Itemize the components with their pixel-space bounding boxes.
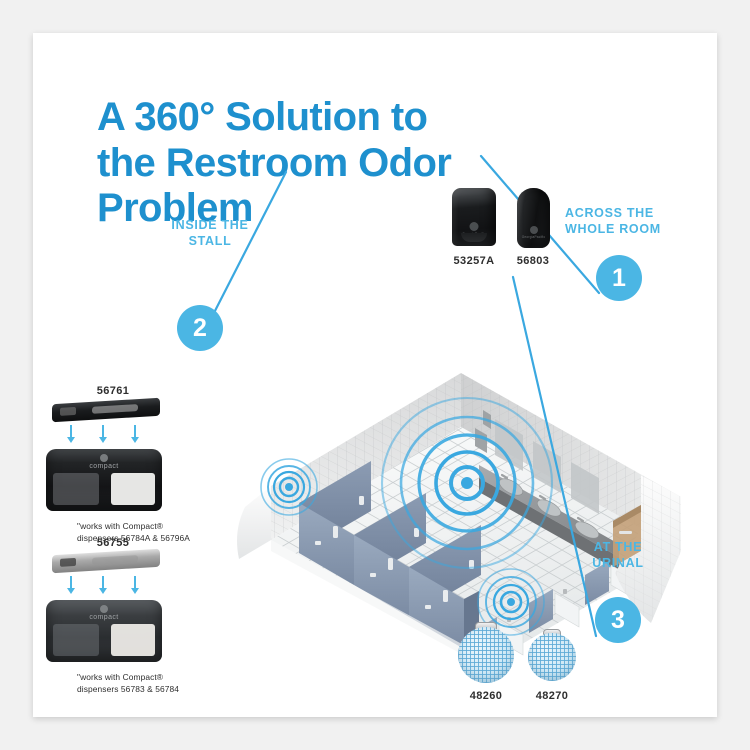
callout-title-1: ACROSS THE WHOLE ROOM bbox=[565, 205, 685, 238]
down-arrow-icon bbox=[134, 425, 136, 438]
screen-mesh bbox=[458, 627, 514, 683]
headline-line-2: the Restroom Odor bbox=[97, 141, 567, 187]
infographic-card: A 360° Solution to the Restroom Odor Pro… bbox=[33, 33, 717, 717]
callout-title-3: AT THE URINAL bbox=[558, 539, 678, 572]
brand-wordmark: compact bbox=[89, 614, 118, 621]
brand-mark-icon bbox=[100, 454, 108, 462]
callout-number-3: 3 bbox=[595, 597, 641, 643]
roll-window-right bbox=[111, 624, 155, 656]
lid-button bbox=[60, 407, 76, 416]
assembly-arrows bbox=[70, 425, 136, 438]
headline-line-1: A 360° Solution to bbox=[97, 95, 567, 141]
callout-bubble-1[interactable]: 1 bbox=[596, 255, 642, 301]
down-arrow-icon bbox=[102, 425, 104, 438]
brand-mark-icon bbox=[470, 222, 479, 231]
product-sku-56803: 56803 bbox=[492, 255, 574, 267]
lid-window bbox=[92, 404, 138, 414]
brand-mark-icon bbox=[100, 605, 108, 613]
product-sku-56755: 56755 bbox=[53, 537, 173, 549]
product-image-48260[interactable] bbox=[458, 627, 514, 683]
page-title: A 360° Solution to the Restroom Odor Pro… bbox=[97, 95, 567, 232]
product-sku-48260: 48260 bbox=[453, 690, 519, 702]
lid-button bbox=[60, 558, 76, 567]
product-sku-48270: 48270 bbox=[519, 690, 585, 702]
product-note-56755: "works with Compact® dispensers 56783 & … bbox=[77, 672, 227, 695]
assembly-arrows bbox=[70, 576, 136, 589]
callout-bubble-3[interactable]: 3 bbox=[595, 597, 641, 643]
product-sku-56761: 56761 bbox=[53, 385, 173, 397]
callout-number-1: 1 bbox=[596, 255, 642, 301]
brand-mark-icon bbox=[530, 226, 538, 234]
down-arrow-icon bbox=[134, 576, 136, 589]
brand-wordmark: compact bbox=[89, 463, 118, 470]
lid-window bbox=[92, 555, 138, 565]
roll-window-left bbox=[53, 473, 99, 505]
dispenser-lid bbox=[52, 398, 160, 423]
product-image-56803[interactable]: GeorgiaPacific bbox=[517, 188, 550, 248]
down-arrow-icon bbox=[102, 576, 104, 589]
dispenser-lid bbox=[52, 549, 160, 574]
dispenser-body: compact bbox=[46, 600, 162, 662]
down-arrow-icon bbox=[70, 425, 72, 438]
down-arrow-icon bbox=[70, 576, 72, 589]
screen-mesh bbox=[528, 633, 576, 681]
callout-number-2: 2 bbox=[177, 305, 223, 351]
product-image-48270[interactable] bbox=[528, 633, 576, 681]
callout-bubble-2[interactable]: 2 bbox=[177, 305, 223, 351]
brand-wordmark: GeorgiaPacific bbox=[462, 232, 486, 236]
roll-window-right bbox=[111, 473, 155, 505]
callout-title-2: INSIDE THE STALL bbox=[150, 217, 270, 250]
product-image-53257A[interactable]: GeorgiaPacific bbox=[452, 188, 496, 246]
dispenser-body: compact bbox=[46, 449, 162, 511]
brand-wordmark: GeorgiaPacific bbox=[522, 235, 546, 239]
roll-window-left bbox=[53, 624, 99, 656]
page-background: A 360° Solution to the Restroom Odor Pro… bbox=[0, 0, 750, 750]
